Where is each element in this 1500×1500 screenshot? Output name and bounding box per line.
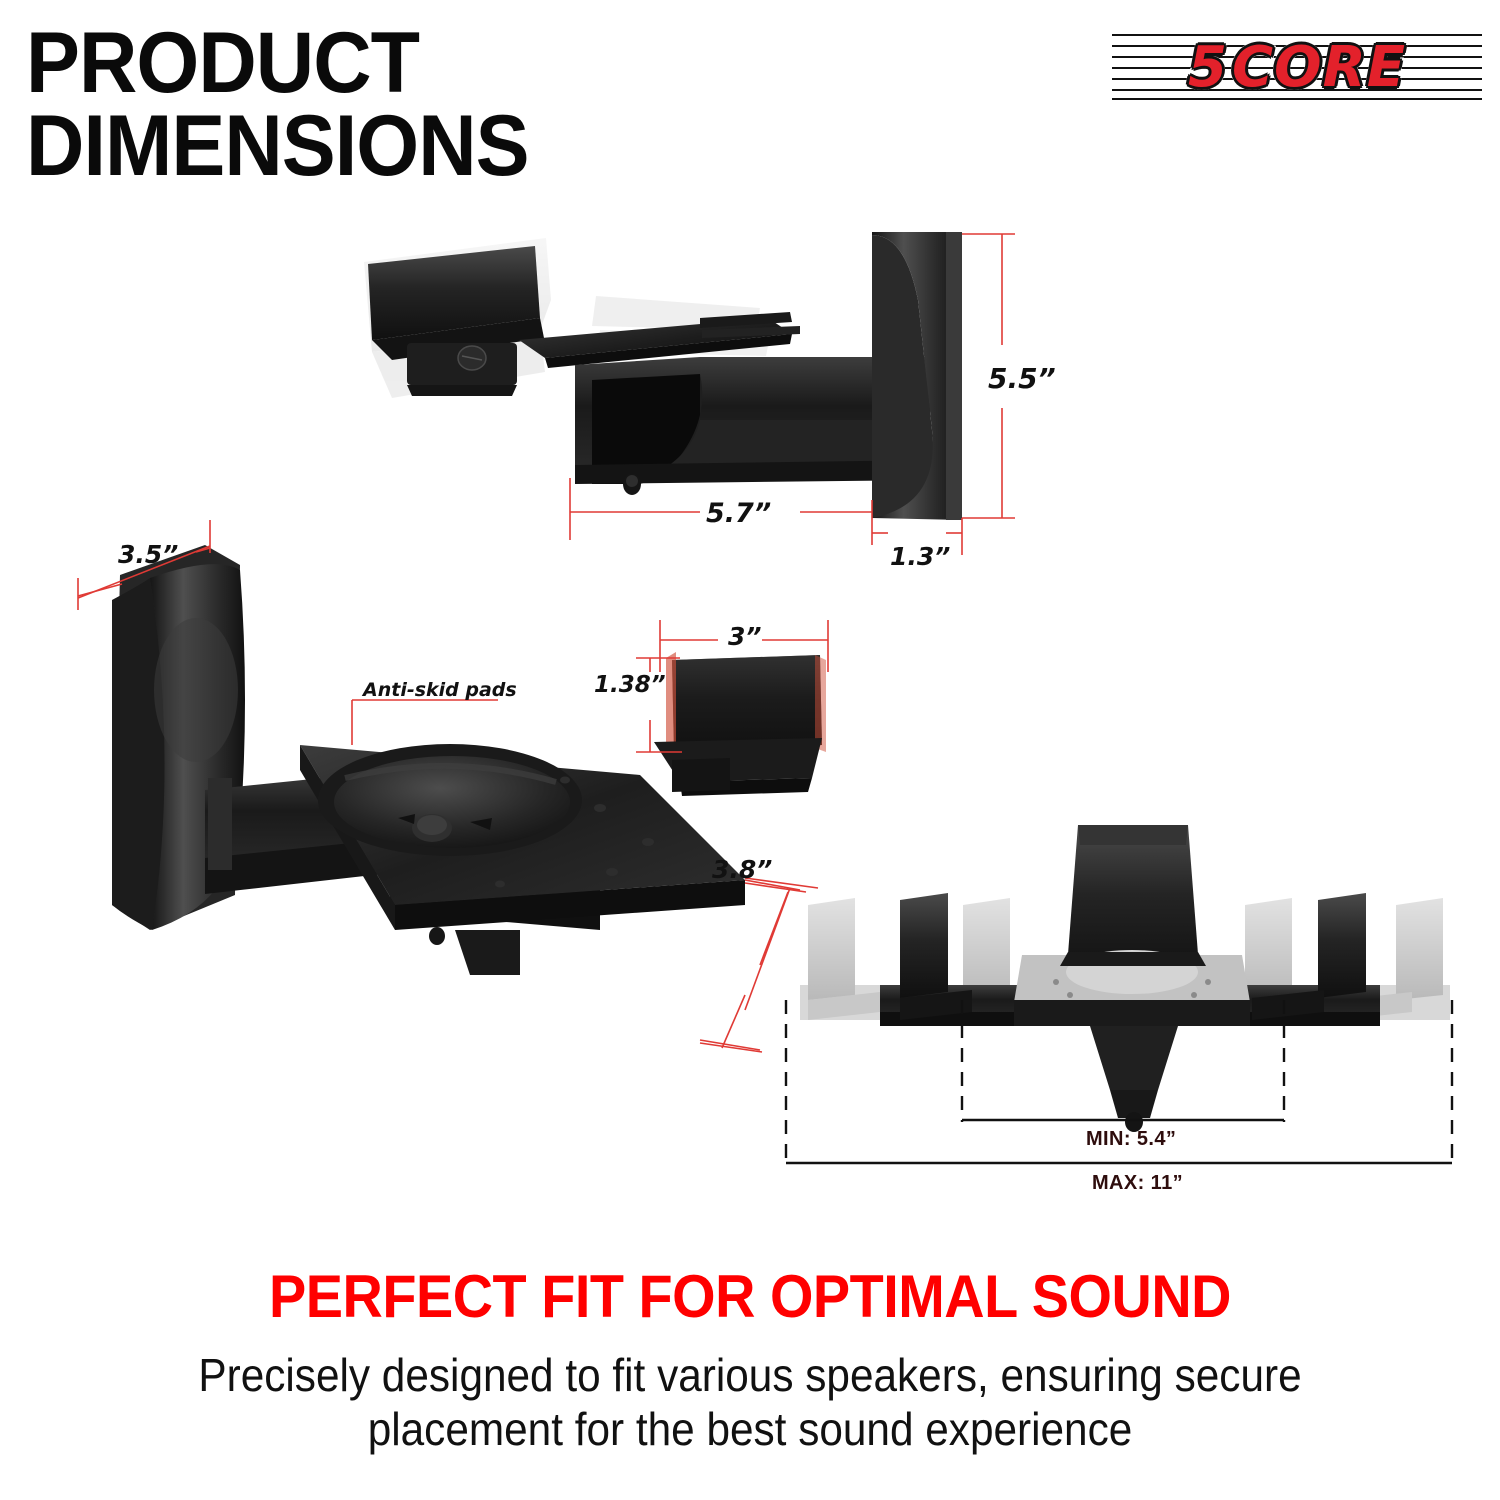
iso-dimension-lines xyxy=(78,520,818,1050)
dimension-label-height-5-5: 5.5” xyxy=(988,362,1056,395)
ghost-clamp-side xyxy=(364,238,770,398)
dimension-label-depth-5-7: 5.7” xyxy=(706,498,771,529)
dimension-label-max-width: MAX: 11” xyxy=(1092,1172,1183,1195)
arm-cutout xyxy=(592,374,700,484)
footer-description-line-2: placement for the best sound experience xyxy=(170,1402,1329,1456)
diagram-iso-view xyxy=(78,520,828,1052)
logo-number: 5 xyxy=(1186,35,1230,100)
front-tray-lip xyxy=(1060,952,1206,966)
iso-lower-stub xyxy=(455,930,520,975)
iso-tray-screws xyxy=(495,777,654,888)
front-bracket-right xyxy=(1318,893,1366,998)
adjust-knob xyxy=(458,346,486,370)
footer-description: Precisely designed to fit various speake… xyxy=(170,1348,1329,1457)
iso-center-knob xyxy=(412,814,452,842)
main-arm xyxy=(575,357,930,480)
iso-tray-top xyxy=(300,745,745,905)
callout-anti-skid-pads: Anti-skid pads xyxy=(363,679,517,701)
dimension-label-wall-width-3-5: 3.5” xyxy=(118,540,178,569)
iso-dish xyxy=(334,756,570,848)
iso-dish-rim xyxy=(318,744,582,856)
page-title: PRODUCT DIMENSIONS xyxy=(26,22,628,189)
ghost-wide-position xyxy=(800,898,1450,1020)
footer-tagline: PERFECT FIT FOR OPTIMAL SOUND xyxy=(53,1262,1448,1331)
wall-plate-face xyxy=(872,232,962,520)
detail-bracket-face xyxy=(672,655,822,752)
dimension-label-bracket-width-3: 3” xyxy=(728,622,762,651)
dimension-label-min-width: MIN: 5.4” xyxy=(1086,1128,1176,1151)
iso-arm xyxy=(205,770,400,872)
iso-arm-2 xyxy=(390,770,600,900)
upper-shelf xyxy=(519,318,792,358)
front-funnel xyxy=(1090,1026,1178,1090)
upper-clamp-pad xyxy=(368,246,540,340)
wall-plate-curve xyxy=(872,235,933,518)
front-bracket-left xyxy=(900,893,948,998)
diagram-front-view xyxy=(786,825,1452,1165)
iso-wall-plate-face xyxy=(150,564,245,930)
brand-logo: 5 CORE xyxy=(1112,28,1482,106)
detail-bracket-base xyxy=(654,738,822,782)
diagram-side-view xyxy=(364,232,1015,555)
arm-screw xyxy=(623,473,641,495)
iso-tray-edge xyxy=(395,880,745,930)
front-upright xyxy=(1066,825,1200,980)
dimension-label-bracket-height-1-38: 1.38” xyxy=(594,672,666,698)
front-rail xyxy=(880,985,1380,1022)
knob-housing xyxy=(407,343,517,385)
iso-arm-bracket xyxy=(208,778,232,870)
iso-wall-plate-side xyxy=(112,545,240,930)
side-view-dimension-lines xyxy=(570,234,1015,555)
dimension-label-tray-depth-3-8: 3.8” xyxy=(712,855,772,884)
front-tray-body xyxy=(1014,1000,1250,1026)
logo-text: 5 CORE xyxy=(1112,28,1482,106)
infographic-canvas: PRODUCT DIMENSIONS 5 CORE xyxy=(0,0,1500,1500)
front-tray-ghost xyxy=(1022,960,1242,1012)
footer-description-line-1: Precisely designed to fit various speake… xyxy=(170,1348,1329,1402)
dimension-label-wall-plate-1-3: 1.3” xyxy=(890,542,950,571)
logo-word: CORE xyxy=(1230,35,1408,100)
